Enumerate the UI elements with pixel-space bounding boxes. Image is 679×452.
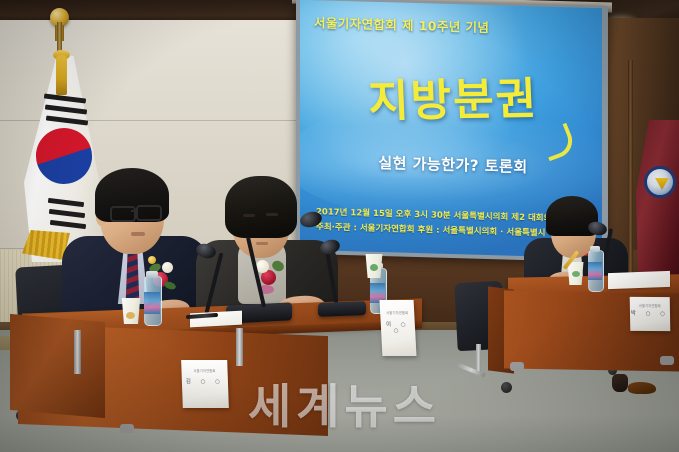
side-table-foot-left [510, 362, 524, 371]
water-bottle-label-3 [588, 262, 602, 280]
name-card-right-title: 서울기자연합회 [630, 303, 670, 308]
panelist-left-glasses-icon [110, 206, 136, 222]
name-card-center-name: 이 ○ ○ [381, 320, 416, 334]
head-table-left-panel [10, 314, 105, 418]
panelist-center-hair [225, 176, 297, 238]
name-card-left-title: 서울기자연합회 [181, 368, 227, 373]
water-bottle-cap-1 [146, 271, 158, 278]
name-card-center: 서울기자연합회 이 ○ ○ [380, 300, 417, 356]
name-card-right: 서울기자연합회 박 ○ ○ [630, 297, 671, 331]
shoe-right-2 [612, 374, 628, 392]
paper-cup-3-decor [572, 271, 580, 277]
panelist-left-glasses-icon-right [136, 205, 162, 221]
water-bottle-label-1 [144, 292, 160, 314]
water-bottle-cap-3 [590, 246, 600, 252]
document-right-table [608, 271, 670, 289]
shoe-right [628, 382, 656, 394]
organization-emblem-icon [644, 166, 676, 198]
press-conference-photo: 서울기자연합회 제 10주년 기념 지방분권 실현 가능한가? 토론회 2017… [0, 0, 679, 452]
head-table-leg-left [74, 330, 81, 374]
name-card-center-title: 서울기자연합회 [380, 310, 414, 315]
paper-cup-1-decor [126, 312, 135, 319]
side-table-foot-right [660, 356, 674, 365]
name-card-left-name: 김 ○ ○ [182, 377, 228, 385]
flag-tassel [56, 55, 67, 95]
name-card-left: 서울기자연합회 김 ○ ○ [181, 360, 229, 408]
name-card-right-name: 박 ○ ○ [630, 309, 670, 317]
screen-main-title: 지방분권 [317, 62, 590, 130]
head-table-foot [120, 424, 134, 433]
head-table-leg-right [236, 328, 243, 366]
paper-cup-2-decor [370, 264, 378, 271]
microphone-base-3 [318, 301, 366, 317]
chair-right-caster [501, 382, 512, 393]
